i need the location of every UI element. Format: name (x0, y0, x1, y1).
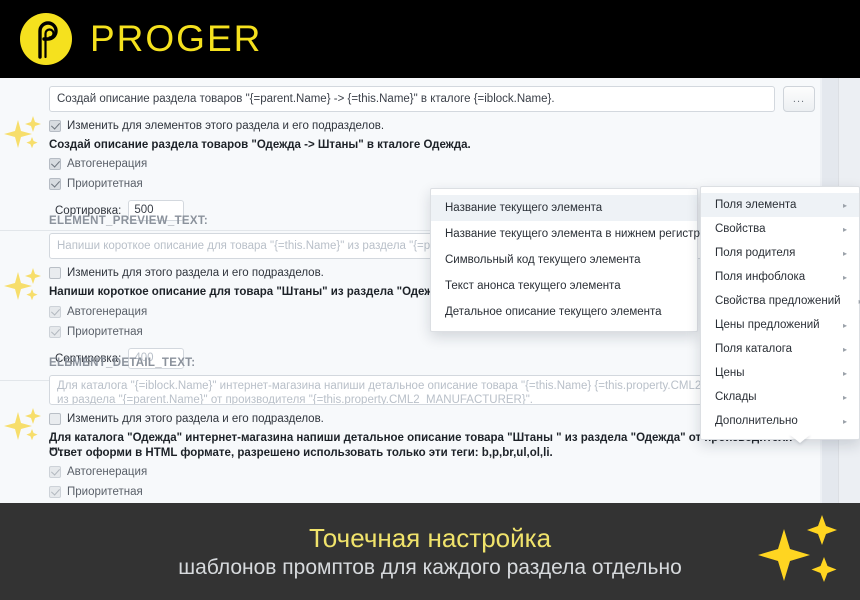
chevron-right-icon: ▸ (843, 249, 847, 258)
menu-item-label: Свойства предложений (715, 295, 841, 307)
rendered-prompt-preview: Создай описание раздела товаров "Одежда … (49, 138, 569, 153)
chevron-right-icon: ▸ (843, 273, 847, 282)
variable-category-menu[interactable]: Поля элемента ▸ Свойства ▸ Поля родителя… (700, 186, 860, 440)
chevron-right-icon: ▸ (843, 369, 847, 378)
menu-item-infoblock-fields[interactable]: Поля инфоблока ▸ (701, 265, 859, 289)
menu-pointer-arrow (789, 434, 811, 443)
submenu-item-label: Символьный код текущего элемента (445, 254, 641, 266)
override-checkbox-row[interactable]: Изменить для элементов этого раздела и е… (49, 120, 384, 132)
variable-submenu[interactable]: Название текущего элемента Название теку… (430, 188, 698, 332)
priority-checkbox-row[interactable]: Приоритетная (49, 178, 143, 190)
menu-item-stores[interactable]: Склады ▸ (701, 385, 859, 409)
autogen-checkbox[interactable] (49, 158, 61, 170)
autogen-label: Автогенерация (67, 158, 147, 170)
override-checkbox[interactable] (49, 413, 61, 425)
priority-label: Приоритетная (67, 326, 143, 338)
screenshot-root: PROGER Создай описание раздела товаров "… (0, 0, 860, 600)
caption-line-2: шаблонов промптов для каждого раздела от… (178, 555, 682, 581)
brand-bar: PROGER (0, 0, 860, 78)
chevron-right-icon: ▸ (843, 417, 847, 426)
sparkle-decoration-icon (4, 268, 44, 306)
submenu-item-label: Название текущего элемента в нижнем реги… (445, 228, 706, 240)
submenu-item[interactable]: Символьный код текущего элемента (431, 247, 697, 273)
menu-item-label: Свойства (715, 223, 766, 235)
submenu-item-label: Текст анонса текущего элемента (445, 280, 621, 292)
menu-item-properties[interactable]: Свойства ▸ (701, 217, 859, 241)
submenu-item[interactable]: Детальное описание текущего элемента (431, 299, 697, 325)
sparkle-decoration-icon (4, 116, 44, 154)
override-label: Изменить для элементов этого раздела и е… (67, 120, 384, 132)
submenu-item[interactable]: Текст анонса текущего элемента (431, 273, 697, 299)
menu-item-label: Поля каталога (715, 343, 792, 355)
override-checkbox[interactable] (49, 267, 61, 279)
brand-name: PROGER (90, 18, 262, 60)
autogen-checkbox[interactable] (49, 306, 61, 318)
menu-item-label: Поля родителя (715, 247, 795, 259)
sparkle-decoration-icon (4, 408, 44, 446)
priority-checkbox[interactable] (49, 178, 61, 190)
chevron-right-icon: ▸ (843, 345, 847, 354)
menu-item-catalog-fields[interactable]: Поля каталога ▸ (701, 337, 859, 361)
proger-logo-icon (20, 13, 72, 65)
priority-label: Приоритетная (67, 178, 143, 190)
priority-checkbox-row[interactable]: Приоритетная (49, 486, 143, 498)
override-checkbox[interactable] (49, 120, 61, 132)
override-label: Изменить для этого раздела и его подразд… (67, 267, 324, 279)
override-checkbox-row[interactable]: Изменить для этого раздела и его подразд… (49, 413, 324, 425)
chevron-right-icon: ▸ (843, 321, 847, 330)
autogen-checkbox-row[interactable]: Автогенерация (49, 158, 147, 170)
detail-prompt-textarea[interactable]: Для каталога "{=iblock.Name}" интернет-м… (49, 375, 775, 405)
autogen-label: Автогенерация (67, 466, 147, 478)
menu-item-offer-properties[interactable]: Свойства предложений ▸ (701, 289, 859, 313)
menu-item-element-fields[interactable]: Поля элемента ▸ (701, 193, 859, 217)
logo-p-glyph (20, 13, 72, 65)
priority-checkbox[interactable] (49, 326, 61, 338)
autogen-checkbox-row[interactable]: Автогенерация (49, 306, 147, 318)
menu-item-label: Поля элемента (715, 199, 796, 211)
field-name-label: ELEMENT_PREVIEW_TEXT: (49, 215, 208, 227)
chevron-right-icon: ▸ (843, 201, 847, 210)
field-name-label: ELEMENT_DETAIL_TEXT: (49, 357, 195, 369)
banner-sparkle-icon (750, 515, 846, 589)
priority-checkbox[interactable] (49, 486, 61, 498)
priority-checkbox-row[interactable]: Приоритетная (49, 326, 143, 338)
caption-banner: Точечная настройка шаблонов промптов для… (0, 503, 860, 600)
autogen-label: Автогенерация (67, 306, 147, 318)
submenu-item-label: Детальное описание текущего элемента (445, 306, 662, 318)
submenu-item-label: Название текущего элемента (445, 202, 602, 214)
menu-item-label: Дополнительно (715, 415, 798, 427)
app-screenshot-area: Создай описание раздела товаров "{=paren… (0, 78, 860, 503)
menu-item-label: Цены предложений (715, 319, 820, 331)
insert-variable-button[interactable]: ... (783, 86, 815, 112)
override-label: Изменить для этого раздела и его подразд… (67, 413, 324, 425)
rendered-prompt-preview-line2: Ответ оформи в HTML формате, разрешено и… (49, 446, 809, 461)
override-checkbox-row[interactable]: Изменить для этого раздела и его подразд… (49, 267, 324, 279)
menu-item-prices[interactable]: Цены ▸ (701, 361, 859, 385)
menu-item-parent-fields[interactable]: Поля родителя ▸ (701, 241, 859, 265)
menu-item-label: Цены (715, 367, 745, 379)
chevron-right-icon: ▸ (843, 225, 847, 234)
prompt-input-row: Создай описание раздела товаров "{=paren… (49, 86, 815, 112)
section-prompt-input[interactable]: Создай описание раздела товаров "{=paren… (49, 86, 775, 112)
menu-item-offer-prices[interactable]: Цены предложений ▸ (701, 313, 859, 337)
priority-label: Приоритетная (67, 486, 143, 498)
menu-item-label: Поля инфоблока (715, 271, 805, 283)
menu-item-label: Склады (715, 391, 757, 403)
menu-item-additional[interactable]: Дополнительно ▸ (701, 409, 859, 433)
submenu-item[interactable]: Название текущего элемента в нижнем реги… (431, 221, 697, 247)
autogen-checkbox[interactable] (49, 466, 61, 478)
autogen-checkbox-row[interactable]: Автогенерация (49, 466, 147, 478)
chevron-right-icon: ▸ (843, 393, 847, 402)
submenu-item[interactable]: Название текущего элемента (431, 195, 697, 221)
caption-line-1: Точечная настройка (309, 523, 551, 553)
